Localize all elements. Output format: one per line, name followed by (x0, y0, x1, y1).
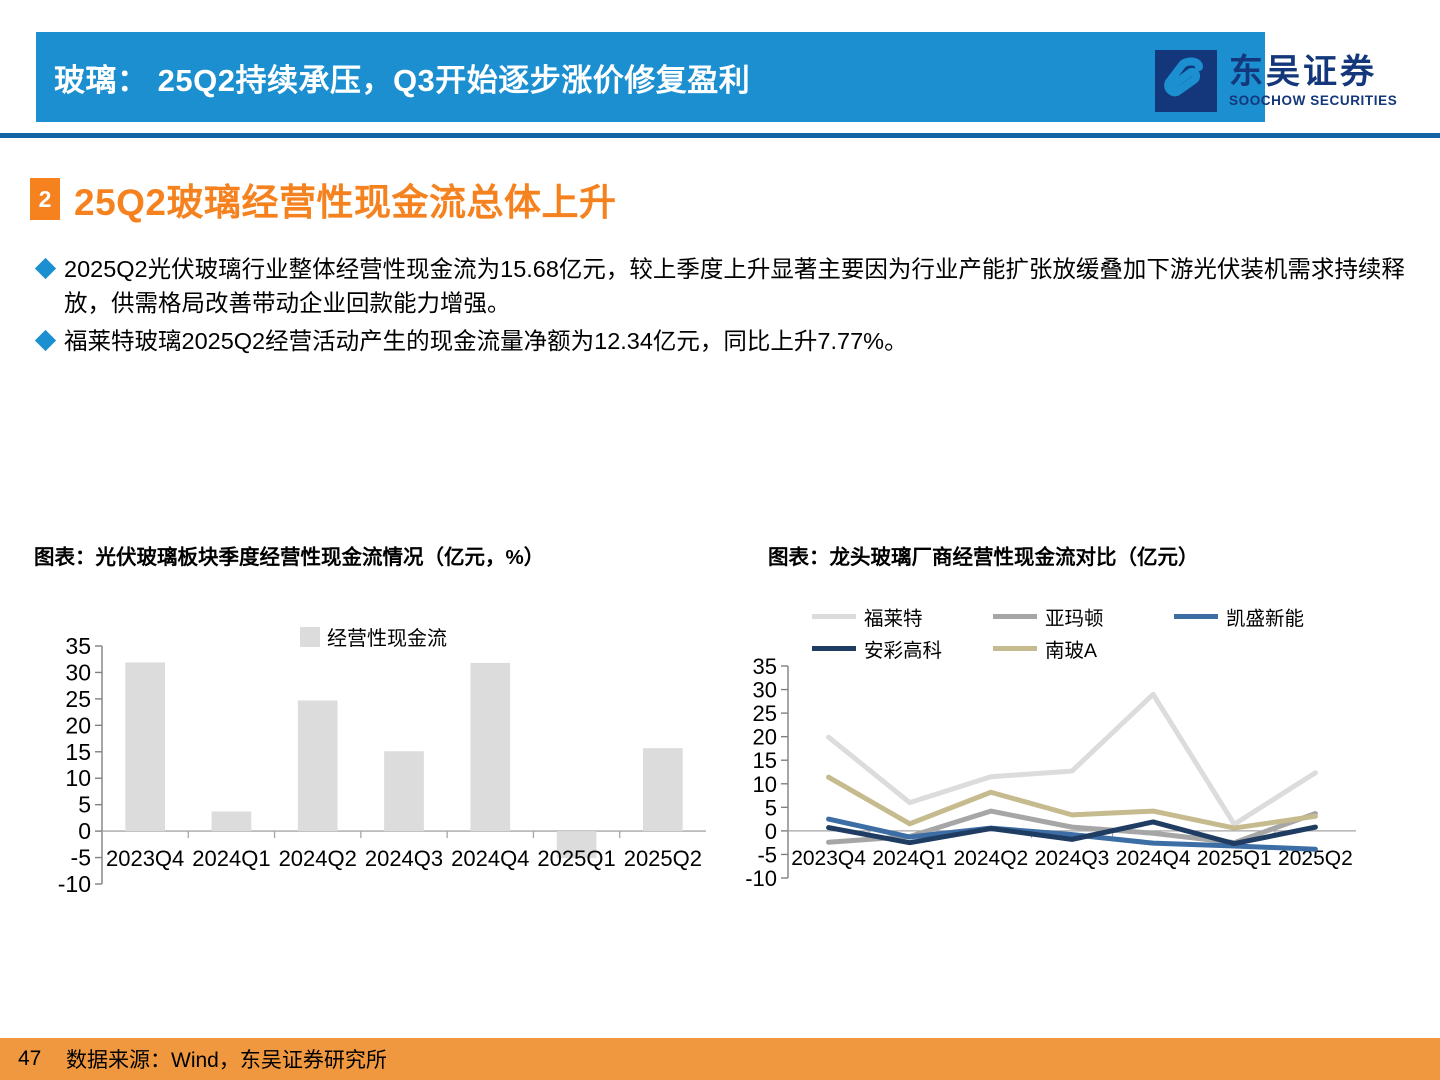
right-chart-caption: 图表：龙头玻璃厂商经营性现金流对比（亿元） (768, 540, 1199, 570)
svg-text:2024Q4: 2024Q4 (1116, 847, 1191, 870)
bullet-text: 2025Q2光伏玻璃行业整体经营性现金流为15.68亿元，较上季度上升显著主要因… (64, 252, 1418, 320)
svg-text:20: 20 (65, 712, 91, 738)
svg-text:2024Q1: 2024Q1 (192, 846, 270, 871)
svg-text:2024Q1: 2024Q1 (872, 847, 947, 870)
bar-chart: -10-5051015202530352023Q42024Q12024Q2202… (30, 600, 720, 970)
svg-text:15: 15 (753, 748, 777, 773)
svg-text:10: 10 (753, 772, 777, 797)
svg-text:2025Q2: 2025Q2 (624, 846, 702, 871)
svg-text:-5: -5 (71, 845, 91, 871)
logo-name-cn: 东吴证券 (1229, 55, 1377, 89)
header-banner: 玻璃： 25Q2持续承压，Q3开始逐步涨价修复盈利 (36, 32, 1265, 122)
page-title: 玻璃： 25Q2持续承压，Q3开始逐步涨价修复盈利 (36, 55, 750, 100)
diamond-bullet-icon (38, 333, 64, 348)
soochow-logo-icon (1155, 50, 1217, 112)
svg-text:5: 5 (765, 795, 777, 820)
svg-text:20: 20 (753, 725, 777, 750)
svg-text:35: 35 (753, 654, 777, 679)
svg-text:-10: -10 (745, 866, 777, 891)
svg-text:25: 25 (65, 686, 91, 712)
svg-text:2024Q2: 2024Q2 (953, 847, 1028, 870)
svg-text:30: 30 (65, 659, 91, 685)
svg-text:5: 5 (78, 792, 91, 818)
svg-text:-10: -10 (58, 871, 91, 897)
header-divider (0, 133, 1440, 138)
list-item: 2025Q2光伏玻璃行业整体经营性现金流为15.68亿元，较上季度上升显著主要因… (38, 252, 1418, 320)
svg-text:2024Q3: 2024Q3 (1035, 847, 1110, 870)
bullet-list: 2025Q2光伏玻璃行业整体经营性现金流为15.68亿元，较上季度上升显著主要因… (38, 252, 1418, 362)
logo-name-en: SOOCHOW SECURITIES (1229, 94, 1397, 108)
svg-text:35: 35 (65, 633, 91, 659)
svg-text:2025Q1: 2025Q1 (1197, 847, 1272, 870)
svg-text:2023Q4: 2023Q4 (106, 846, 184, 871)
left-chart-caption: 图表：光伏玻璃板块季度经营性现金流情况（亿元，%） (34, 540, 544, 570)
section-heading: 2 25Q2玻璃经营性现金流总体上升 (30, 172, 617, 226)
svg-text:2025Q1: 2025Q1 (537, 846, 615, 871)
diamond-bullet-icon (38, 261, 64, 276)
slide-page: 玻璃： 25Q2持续承压，Q3开始逐步涨价修复盈利 东吴证券 SOOCHOW S… (0, 0, 1440, 1080)
company-logo: 东吴证券 SOOCHOW SECURITIES (1155, 46, 1400, 116)
bullet-text: 福莱特玻璃2025Q2经营活动产生的现金流量净额为12.34亿元，同比上升7.7… (64, 324, 1418, 358)
footer-bar: 47 数据来源：Wind，东吴证券研究所 (0, 1038, 1440, 1080)
svg-text:0: 0 (765, 819, 777, 844)
svg-text:25: 25 (753, 701, 777, 726)
svg-text:10: 10 (65, 765, 91, 791)
section-number-badge: 2 (30, 178, 60, 220)
svg-text:2024Q3: 2024Q3 (365, 846, 443, 871)
svg-text:2024Q4: 2024Q4 (451, 846, 529, 871)
svg-text:2023Q4: 2023Q4 (791, 847, 866, 870)
svg-text:15: 15 (65, 739, 91, 765)
page-number: 47 (18, 1047, 66, 1071)
svg-text:-5: -5 (757, 842, 777, 867)
section-title: 25Q2玻璃经营性现金流总体上升 (74, 172, 617, 226)
svg-text:30: 30 (753, 678, 777, 703)
line-chart: -10-5051015202530352023Q42024Q12024Q2202… (730, 588, 1370, 958)
svg-text:2024Q2: 2024Q2 (279, 846, 357, 871)
list-item: 福莱特玻璃2025Q2经营活动产生的现金流量净额为12.34亿元，同比上升7.7… (38, 324, 1418, 358)
svg-text:0: 0 (78, 818, 91, 844)
source-note: 数据来源：Wind，东吴证券研究所 (66, 1044, 387, 1074)
